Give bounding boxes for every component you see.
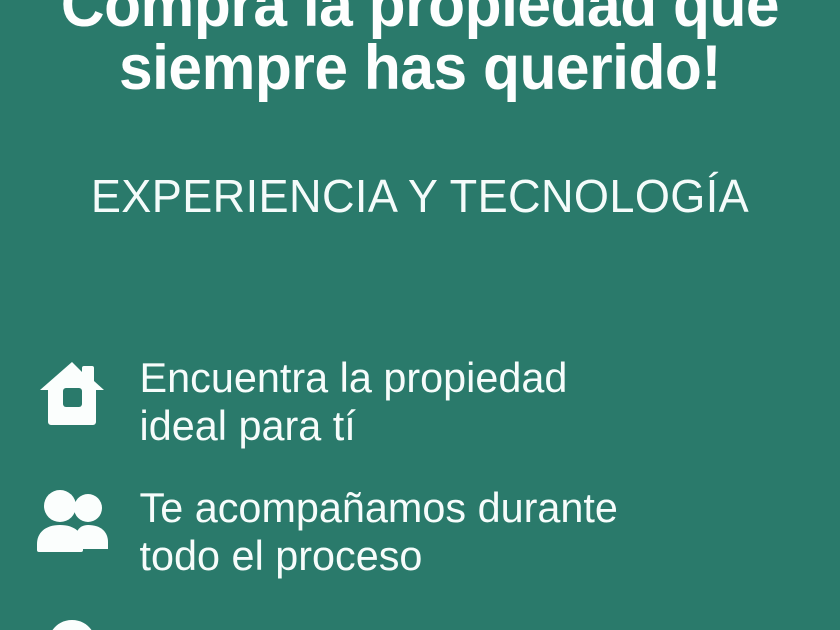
headline-line-2: siempre has querido! <box>17 37 823 100</box>
house-icon <box>34 352 110 432</box>
subtitle: EXPERIENCIA Y TECNOLOGÍA <box>8 170 831 222</box>
list-item <box>0 612 840 630</box>
feature-list: Encuentra la propiedad ideal para tí Te … <box>0 352 840 630</box>
list-item: Te acompañamos durante todo el proceso <box>0 482 840 586</box>
people-group-icon <box>34 482 110 562</box>
promo-banner: Compra la propiedad que siempre has quer… <box>0 0 840 630</box>
headline-line-1: Compra la propiedad que <box>17 0 823 37</box>
list-item-label <box>110 612 829 614</box>
list-item: Encuentra la propiedad ideal para tí <box>0 352 840 456</box>
location-pin-icon <box>34 612 110 630</box>
page-title: Compra la propiedad que siempre has quer… <box>17 0 823 100</box>
list-item-label: Te acompañamos durante todo el proceso <box>110 482 829 580</box>
list-item-label: Encuentra la propiedad ideal para tí <box>110 352 829 450</box>
